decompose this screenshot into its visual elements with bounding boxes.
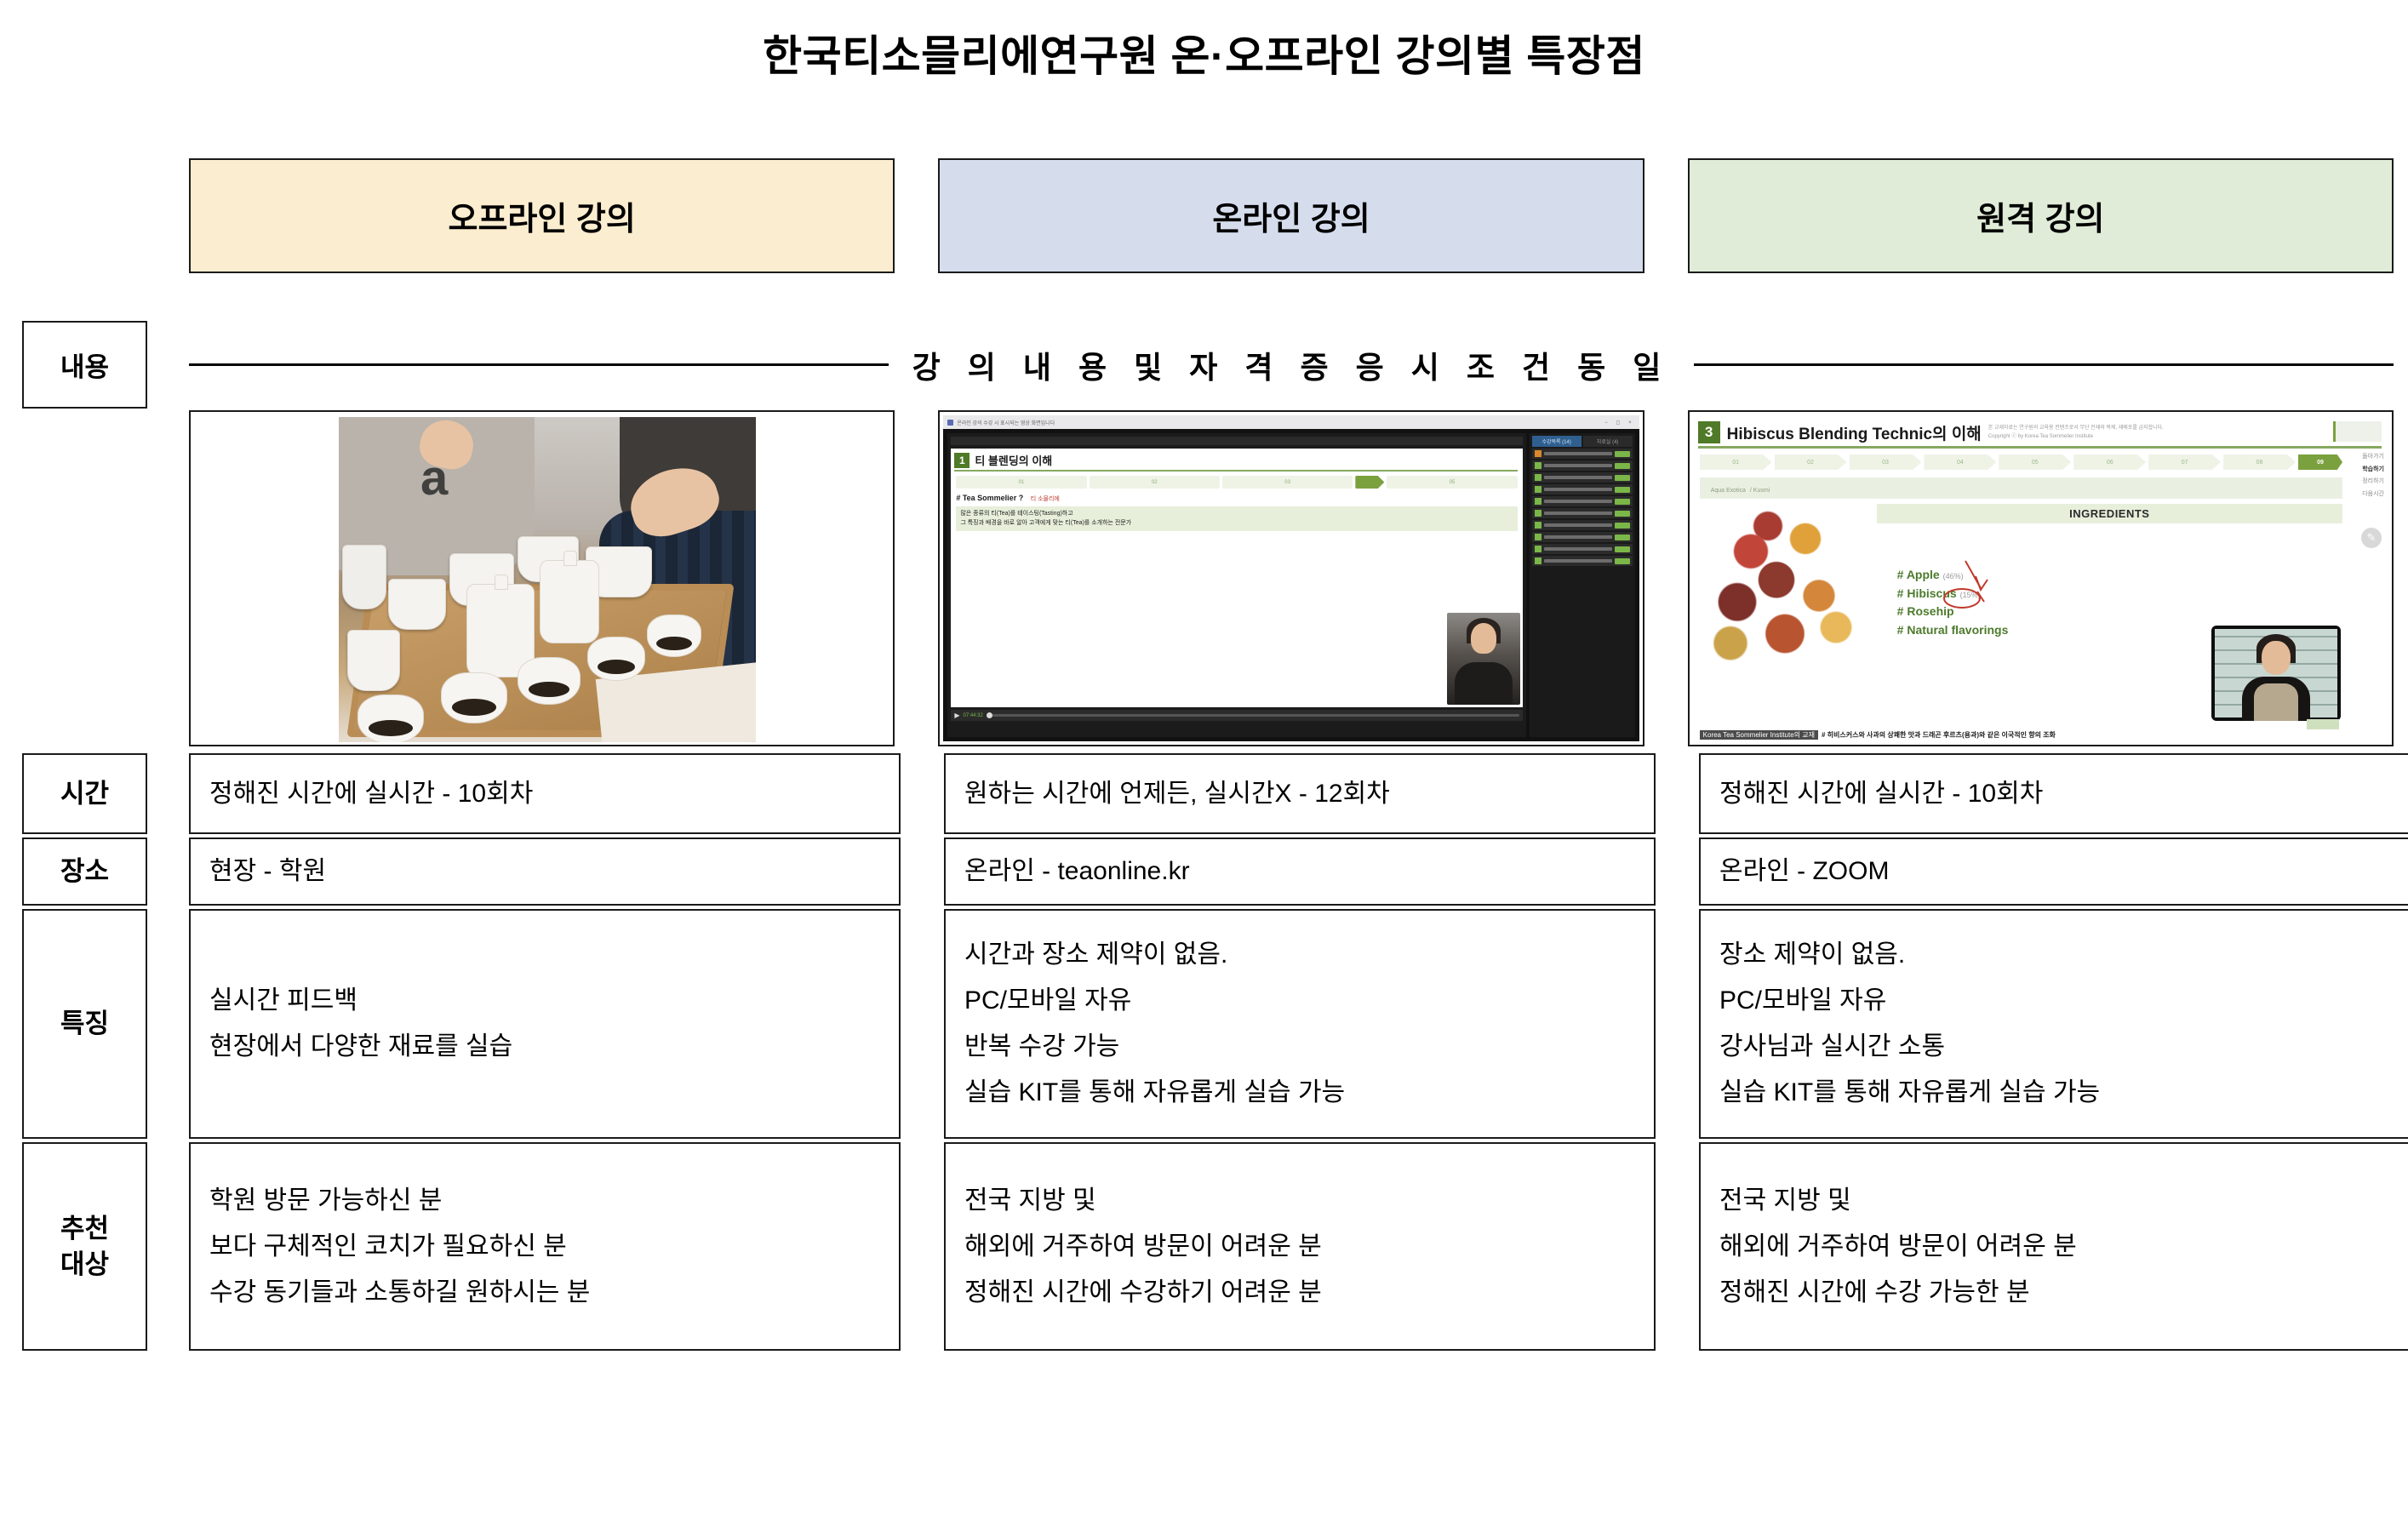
cell-line: 학원 방문 가능하신 분	[209, 1178, 880, 1224]
media-row: a 온라인 강의 수강 시 표시되는 영상 화	[189, 410, 2394, 746]
row-label-time: 시간	[22, 753, 147, 834]
status-icon	[1535, 450, 1541, 457]
column-header-online: 온라인 강의	[938, 158, 1644, 273]
cell-feature-offline: 실시간 피드백 현장에서 다양한 재료를 실습	[189, 909, 901, 1139]
lecture-list-item[interactable]	[1532, 544, 1633, 554]
status-icon	[1535, 498, 1541, 505]
instructor-face	[2262, 641, 2291, 675]
slide-footer-chip	[2307, 719, 2339, 729]
lecture-list-item[interactable]	[1532, 496, 1633, 506]
lecture-list-item[interactable]	[1532, 484, 1633, 494]
row-label-feature: 특징	[22, 909, 147, 1139]
photo-tea-leaves	[369, 720, 413, 736]
cell-line: 시간과 장소 제약이 없음.	[964, 932, 1635, 978]
column-header-remote: 원격 강의	[1688, 158, 2394, 273]
slide-step: 01	[956, 476, 1086, 489]
lecture-slide: 1 티 블렌딩의 이해 01 02 03 05 # Tea Sommel	[951, 449, 1522, 707]
copyright-line-2: Copyright ⓒ by Korea Tea Sommelier Insti…	[1988, 433, 2164, 442]
zoom-step: 01	[1700, 454, 1772, 470]
cell-place-online: 온라인 - teaonline.kr	[944, 837, 1656, 906]
slide-header: 1 티 블렌딩의 이해	[951, 449, 1522, 470]
zoom-blend-name: Aqua Exotica/ Kusmi	[1700, 477, 2342, 499]
slide-note: 많은 종류의 티(Tea)를 테이스팅(Tasting)하고 그 특징과 배경을…	[956, 506, 1517, 531]
cell-line: 정해진 시간에 수강하기 어려운 분	[964, 1270, 1635, 1316]
cell-line: 현장에서 다양한 재료를 실습	[209, 1024, 880, 1070]
cell-line: 온라인 - teaonline.kr	[964, 849, 1635, 895]
slide-question-sub: 티 소믈리에	[1031, 496, 1060, 502]
zoom-side-menu[interactable]: 돌아가기 학습하기 정리하기 다음시간	[2343, 451, 2384, 501]
zoom-step: 03	[1850, 454, 1922, 470]
photo-leaf-bowl	[357, 695, 424, 742]
cell-line: 해외에 거주하여 방문이 어려운 분	[1719, 1224, 2390, 1270]
table-row-time: 시간 정해진 시간에 실시간 - 10회차 원하는 시간에 언제든, 실시간X …	[22, 753, 2394, 834]
zoom-step-track: 01 02 03 04 05 06 07 08 09	[1693, 454, 2388, 471]
lecture-list-item[interactable]	[1532, 472, 1633, 483]
table-row-place: 장소 현장 - 학원 온라인 - teaonline.kr 온라인 - ZOOM	[22, 837, 2394, 906]
status-icon	[1535, 486, 1541, 493]
status-icon	[1535, 546, 1541, 552]
zoom-slide-footer: Korea Tea Sommelier Institute의 교재# 히비스커스…	[1693, 730, 2388, 740]
menu-item-back[interactable]: 돌아가기	[2343, 451, 2384, 464]
cell-line: 전국 지방 및	[964, 1178, 1635, 1224]
photo-leaf-bowl	[647, 615, 701, 657]
ingredient-item: # Hibiscus (15%)	[1897, 585, 2342, 603]
play-button[interactable]	[1615, 487, 1630, 493]
lecture-title	[1544, 535, 1612, 539]
vod-stage: 1 티 블렌딩의 이해 01 02 03 05 # Tea Sommel	[947, 433, 1525, 737]
zoom-step: 08	[2223, 454, 2296, 470]
status-icon	[1535, 474, 1541, 481]
status-icon	[1535, 462, 1541, 469]
media-cell-offline: a	[189, 410, 895, 746]
row-label-target-line-1: 추천	[60, 1214, 109, 1243]
cell-line: 전국 지방 및	[1719, 1178, 2390, 1224]
zoom-step-active: 09	[2298, 454, 2342, 470]
lecture-list-item[interactable]	[1532, 556, 1633, 566]
slide-title-underline	[954, 470, 1517, 472]
slide-step-active	[1355, 476, 1384, 489]
table-row-feature: 특징 실시간 피드백 현장에서 다양한 재료를 실습 시간과 장소 제약이 없음…	[22, 909, 2394, 1139]
slide-note-line-2: 그 특징과 배경을 바로 알아 고객에게 맞는 티(Tea)를 소개하는 전문가	[960, 519, 1513, 529]
app-icon	[947, 420, 953, 426]
cell-line: 온라인 - ZOOM	[1719, 849, 2390, 895]
status-icon	[1535, 522, 1541, 529]
photo-tea-leaves	[452, 699, 496, 716]
zoom-copyright: 본 교재자료는 연구원의 교육용 컨텐츠로서 무단 전재와 복제, 재배포를 금…	[1988, 421, 2164, 441]
tea-blend-photo	[1700, 504, 1870, 662]
lecture-list-item[interactable]	[1532, 520, 1633, 530]
slide-step: 03	[1222, 476, 1353, 489]
instructor-webcam	[2211, 626, 2341, 721]
slide-number: 1	[954, 453, 969, 468]
row-label-content: 내용	[22, 321, 147, 409]
status-icon	[1535, 510, 1541, 517]
photo-cup	[347, 630, 400, 691]
cell-line: 실습 KIT를 통해 자유롭게 실습 가능	[964, 1070, 1635, 1116]
zoom-lecture-slide: 3 Hibiscus Blending Technic의 이해 본 교재자료는 …	[1693, 415, 2388, 741]
cell-line: 정해진 시간에 실시간 - 10회차	[1719, 771, 2390, 817]
cell-line: 해외에 거주하여 방문이 어려운 분	[964, 1224, 1635, 1270]
photo-teapot-lid	[563, 551, 577, 566]
play-button[interactable]	[1615, 463, 1630, 469]
slide-step: 05	[1387, 476, 1517, 489]
vod-window-titlebar: 온라인 강의 수강 시 표시되는 영상 화면입니다 − ◻ ×	[943, 415, 1639, 429]
presenter-body	[1455, 662, 1513, 705]
vod-controls[interactable]: ▶ 07:44:32	[951, 710, 1522, 721]
zoom-slide-title: Hibiscus Blending Technic의 이해	[1727, 421, 1982, 444]
cell-line: 정해진 시간에 실시간 - 10회차	[209, 771, 880, 817]
lecture-title	[1544, 512, 1612, 515]
blend-name-text: Aqua Exotica	[1711, 488, 1746, 494]
photo-leaf-bowl	[587, 637, 645, 681]
zoom-step: 04	[1924, 454, 1996, 470]
column-headers: 오프라인 강의 온라인 강의 원격 강의	[189, 158, 2394, 273]
cell-line: 보다 구체적인 코치가 필요하신 분	[209, 1224, 880, 1270]
play-button[interactable]	[1615, 511, 1630, 517]
row-label-target-line-2: 대상	[60, 1249, 109, 1279]
blend-brand: / Kusmi	[1750, 488, 1770, 494]
ingredients-header: INGREDIENTS	[1877, 504, 2342, 523]
cell-line: 현장 - 학원	[209, 849, 880, 895]
zoom-slide-number: 3	[1698, 421, 1720, 443]
play-button[interactable]	[1615, 523, 1630, 529]
photo-leaf-bowl	[518, 657, 581, 705]
row-cells-time: 정해진 시간에 실시간 - 10회차 원하는 시간에 언제든, 실시간X - 1…	[189, 753, 2408, 834]
footer-text: # 히비스커스와 사과의 상쾌한 맛과 드래곤 후르츠(용과)와 같은 이국적인…	[1822, 731, 2056, 739]
cell-time-remote: 정해진 시간에 실시간 - 10회차	[1699, 753, 2408, 834]
vod-time: 07:44:32	[963, 713, 982, 718]
cell-feature-remote: 장소 제약이 없음. PC/모바일 자유 강사님과 실시간 소통 실습 KIT를…	[1699, 909, 2408, 1139]
cell-target-online: 전국 지방 및 해외에 거주하여 방문이 어려운 분 정해진 시간에 수강하기 …	[944, 1142, 1656, 1351]
photo-teapot	[540, 560, 599, 643]
lecture-list-item[interactable]	[1532, 508, 1633, 518]
comparison-table: 시간 정해진 시간에 실시간 - 10회차 원하는 시간에 언제든, 실시간X …	[22, 753, 2394, 1351]
banner-rule-right	[1694, 363, 2394, 366]
vod-seek-handle[interactable]	[987, 712, 992, 718]
cell-line: PC/모바일 자유	[1719, 978, 2390, 1024]
page-title: 한국티소믈리에연구원 온·오프라인 강의별 특장점	[0, 22, 2408, 83]
lecture-title	[1544, 488, 1612, 491]
play-button[interactable]	[1615, 499, 1630, 505]
menu-item-review[interactable]: 정리하기	[2343, 476, 2384, 489]
play-button[interactable]	[1615, 558, 1630, 564]
instructor-vest	[2254, 683, 2298, 721]
lecture-title	[1544, 523, 1612, 527]
slide-photo-strip	[951, 533, 1522, 538]
slide-note-line-1: 많은 종류의 티(Tea)를 테이스팅(Tasting)하고	[960, 510, 1513, 519]
window-controls[interactable]: − ◻ ×	[1604, 420, 1634, 426]
cell-line: 강사님과 실시간 소통	[1719, 1024, 2390, 1070]
institute-logo	[2333, 421, 2382, 442]
vod-sidebar-tabs[interactable]: 수강목록 (14) 자료실 (4)	[1532, 436, 1633, 447]
slide-title: 티 블렌딩의 이해	[975, 452, 1052, 468]
ingredient-name: # Apple	[1897, 568, 1940, 581]
ingredient-item: # Rosehip	[1897, 603, 2342, 621]
lecture-title	[1544, 452, 1612, 455]
zoom-step: 05	[1999, 454, 2071, 470]
cell-line: 장소 제약이 없음.	[1719, 932, 2390, 978]
ingredient-item: # Apple (46%)	[1897, 566, 2342, 585]
zoom-slide-header: 3 Hibiscus Blending Technic의 이해 본 교재자료는 …	[1693, 415, 2388, 446]
media-cell-online: 온라인 강의 수강 시 표시되는 영상 화면입니다 − ◻ × 1 티 블렌딩의…	[938, 410, 1644, 746]
slide-steps: 01 02 03 05	[951, 475, 1522, 489]
play-icon[interactable]: ▶	[954, 712, 959, 719]
photo-cup	[388, 579, 446, 630]
slide-question: # Tea Sommelier ? 티 소믈리에	[951, 489, 1522, 505]
slide-question-text: # Tea Sommelier ?	[956, 494, 1023, 502]
status-icon	[1535, 557, 1541, 564]
presenter-face	[1471, 623, 1496, 654]
column-header-offline: 오프라인 강의	[189, 158, 895, 273]
menu-item-next[interactable]: 다음시간	[2343, 489, 2384, 501]
play-button[interactable]	[1615, 475, 1630, 481]
slide-step: 02	[1090, 476, 1220, 489]
cell-target-offline: 학원 방문 가능하신 분 보다 구체적인 코치가 필요하신 분 수강 동기들과 …	[189, 1142, 901, 1351]
vod-bottom-strip	[951, 723, 1522, 734]
presenter-video	[1447, 613, 1520, 705]
cell-line: 실습 KIT를 통해 자유롭게 실습 가능	[1719, 1070, 2390, 1116]
photo-leaf-bowl	[441, 672, 507, 723]
vod-player-window: 온라인 강의 수강 시 표시되는 영상 화면입니다 − ◻ × 1 티 블렌딩의…	[943, 415, 1639, 741]
vod-seek-bar[interactable]	[987, 714, 1519, 717]
footer-tag: Korea Tea Sommelier Institute의 교재	[1700, 730, 1818, 740]
play-button[interactable]	[1615, 546, 1630, 552]
cell-line: 정해진 시간에 수강 가능한 분	[1719, 1270, 2390, 1316]
row-cells-place: 현장 - 학원 온라인 - teaonline.kr 온라인 - ZOOM	[189, 837, 2408, 906]
copyright-line-1: 본 교재자료는 연구원의 교육용 컨텐츠로서 무단 전재와 복제, 재배포를 금…	[1988, 425, 2164, 433]
ingredient-name: # Rosehip	[1897, 604, 1954, 618]
status-icon	[1535, 534, 1541, 540]
pen-tool-icon[interactable]: ✎	[2361, 528, 2382, 548]
content-banner: 강 의 내 용 및 자 격 증 응 시 조 건 동 일	[189, 321, 2394, 409]
row-cells-target: 학원 방문 가능하신 분 보다 구체적인 코치가 필요하신 분 수강 동기들과 …	[189, 1142, 2408, 1351]
cell-line: 반복 수강 가능	[964, 1024, 1635, 1070]
row-label-target: 추천 대상	[22, 1142, 147, 1351]
ingredient-pct: (15%)	[1960, 591, 1981, 599]
ingredient-name: # Natural flavorings	[1897, 623, 2009, 637]
classroom-photo: a	[339, 417, 756, 742]
zoom-step: 06	[2073, 454, 2146, 470]
lecture-list-item[interactable]	[1532, 460, 1633, 471]
photo-tea-leaves	[598, 660, 636, 674]
cell-line: 수강 동기들과 소통하길 원하시는 분	[209, 1270, 880, 1316]
cell-feature-online: 시간과 장소 제약이 없음. PC/모바일 자유 반복 수강 가능 실습 KIT…	[944, 909, 1656, 1139]
photo-tea-leaves	[529, 682, 570, 697]
play-button[interactable]	[1615, 534, 1630, 540]
menu-item-study[interactable]: 학습하기	[2362, 466, 2384, 472]
lecture-list-item[interactable]	[1532, 449, 1633, 459]
lecture-title	[1544, 464, 1612, 467]
cell-place-offline: 현장 - 학원	[189, 837, 901, 906]
cell-place-remote: 온라인 - ZOOM	[1699, 837, 2408, 906]
lecture-list-item[interactable]	[1532, 532, 1633, 542]
vod-breadcrumb-bar	[951, 437, 1522, 445]
ingredients-list: # Apple (46%) # Hibiscus (15%) # Rosehip…	[1877, 537, 2342, 640]
zoom-step: 02	[1775, 454, 1847, 470]
cell-line: PC/모바일 자유	[964, 978, 1635, 1024]
vod-body: 1 티 블렌딩의 이해 01 02 03 05 # Tea Sommel	[943, 429, 1639, 741]
lecture-title	[1544, 476, 1612, 479]
media-cell-remote: 3 Hibiscus Blending Technic의 이해 본 교재자료는 …	[1688, 410, 2394, 746]
row-label-place: 장소	[22, 837, 147, 906]
tab-lecture-list[interactable]: 수강목록 (14)	[1532, 436, 1582, 447]
play-button[interactable]	[1615, 451, 1630, 457]
banner-rule-left	[189, 363, 889, 366]
ingredient-name: # Hibiscus	[1897, 586, 1957, 600]
vod-sidebar: 수강목록 (14) 자료실 (4)	[1530, 433, 1635, 737]
ingredient-pct: (46%)	[1943, 572, 1964, 580]
table-row-target: 추천 대상 학원 방문 가능하신 분 보다 구체적인 코치가 필요하신 분 수강…	[22, 1142, 2394, 1351]
banner-text: 강 의 내 용 및 자 격 증 응 시 조 건 동 일	[907, 343, 1676, 387]
lecture-title	[1544, 559, 1612, 563]
photo-cup	[342, 545, 386, 609]
photo-teapot-lid	[495, 574, 508, 590]
zoom-title-underline	[1698, 446, 2382, 449]
cell-target-remote: 전국 지방 및 해외에 거주하여 방문이 어려운 분 정해진 시간에 수강 가능…	[1699, 1142, 2408, 1351]
cell-line: 원하는 시간에 언제든, 실시간X - 12회차	[964, 771, 1635, 817]
cell-time-offline: 정해진 시간에 실시간 - 10회차	[189, 753, 901, 834]
vod-window-title: 온라인 강의 수강 시 표시되는 영상 화면입니다	[957, 419, 1601, 426]
photo-tea-leaves	[656, 637, 692, 650]
row-cells-feature: 실시간 피드백 현장에서 다양한 재료를 실습 시간과 장소 제약이 없음. P…	[189, 909, 2408, 1139]
lecture-title	[1544, 547, 1612, 551]
cell-line: 실시간 피드백	[209, 978, 880, 1024]
cell-time-online: 원하는 시간에 언제든, 실시간X - 12회차	[944, 753, 1656, 834]
lecture-title	[1544, 500, 1612, 503]
zoom-step: 07	[2148, 454, 2221, 470]
tab-resources[interactable]: 자료실 (4)	[1583, 436, 1633, 447]
